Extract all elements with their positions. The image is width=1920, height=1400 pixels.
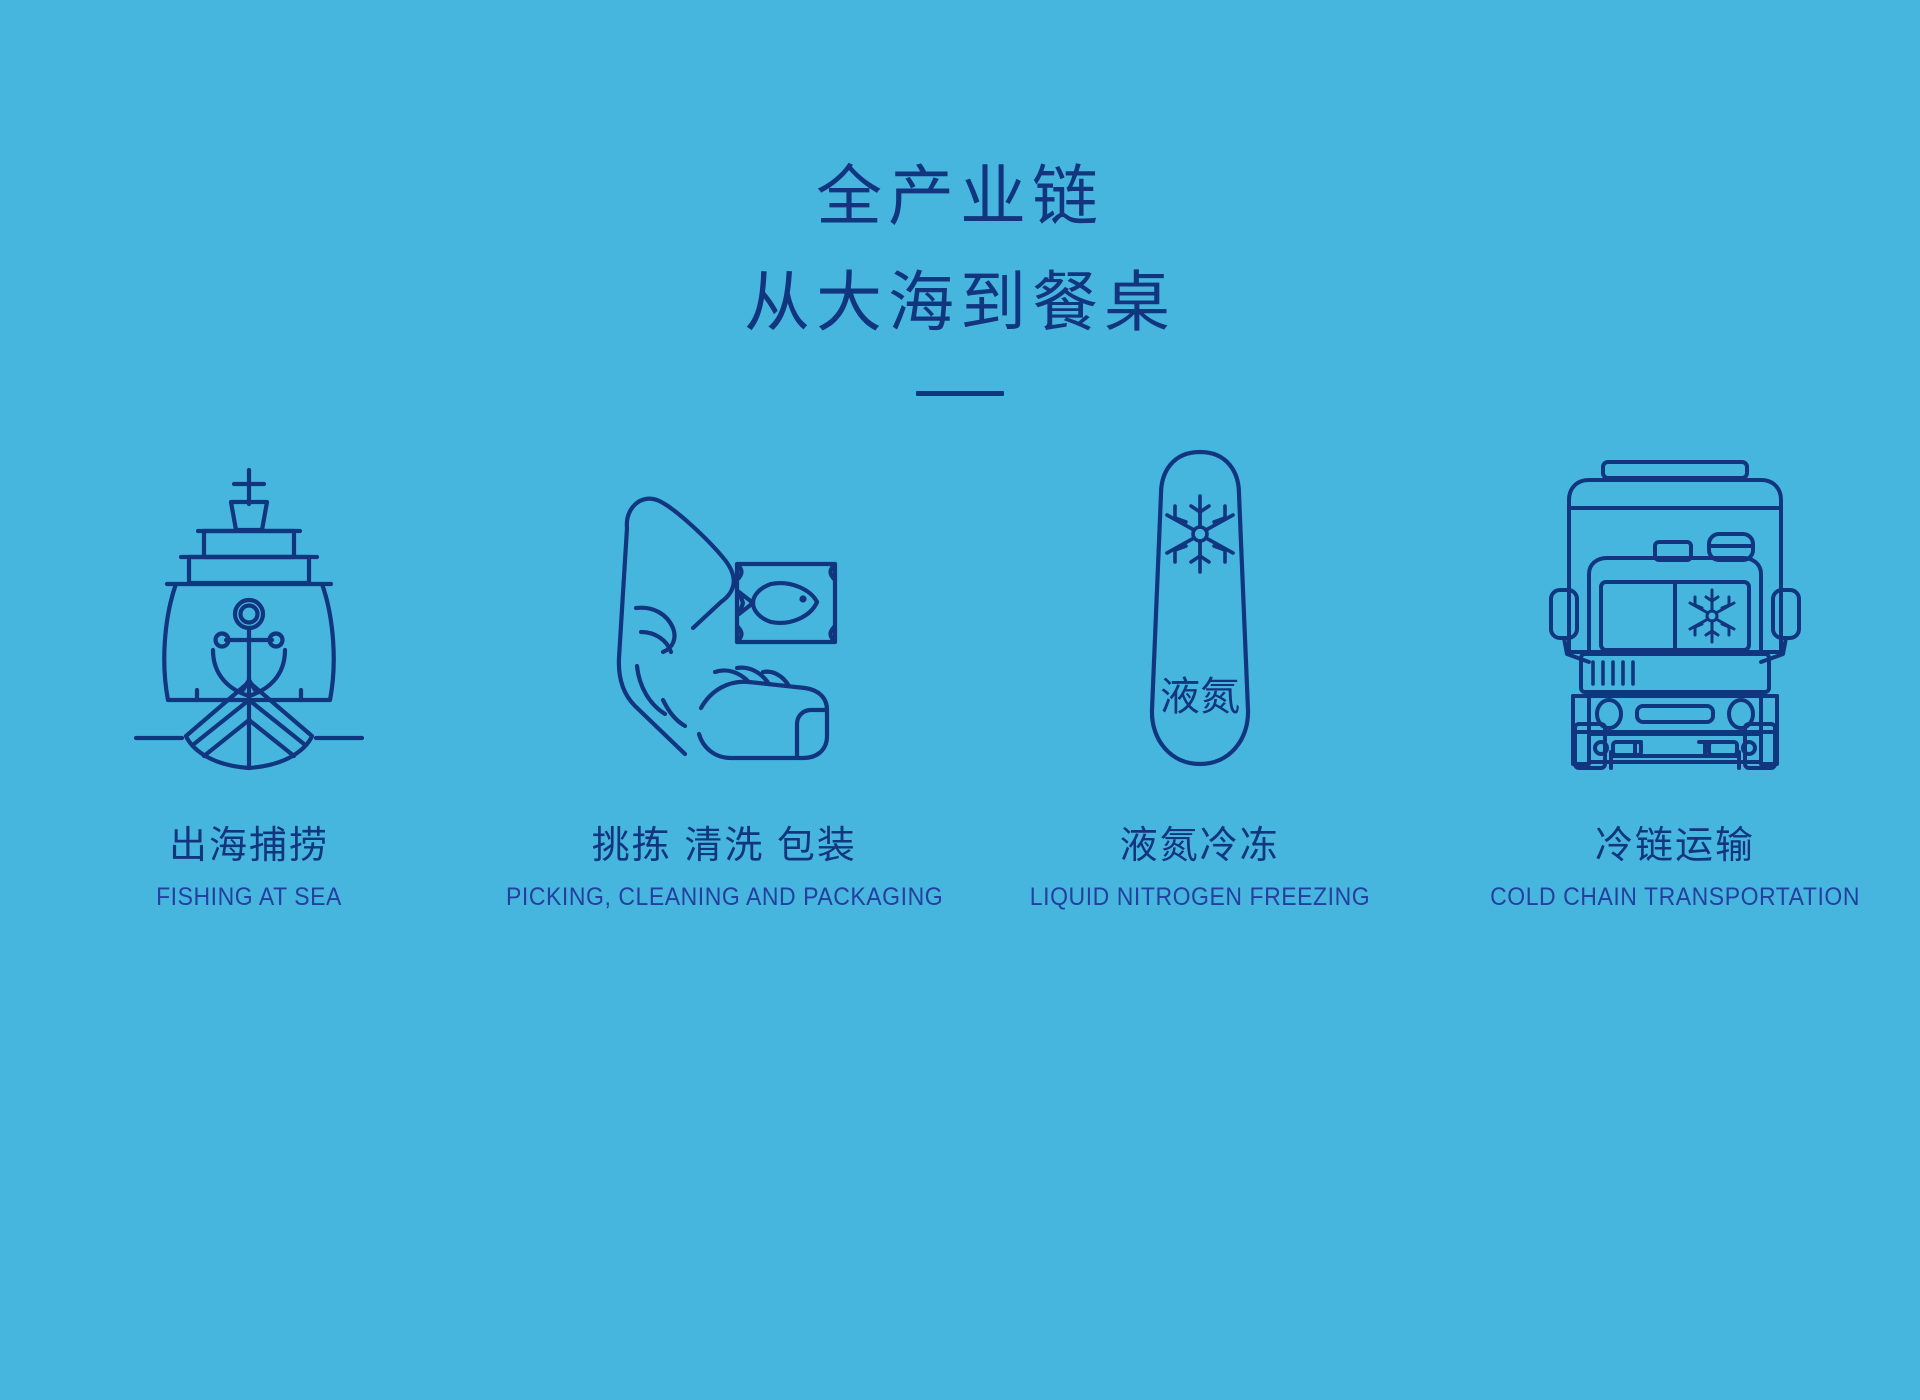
step-fishing-at-sea: 出海捕捞 FISHING AT SEA [24, 438, 474, 911]
step-liquid-nitrogen-freezing: 液氮 液氮冷冻 LIQUID NITROGEN FREEZING [975, 438, 1425, 911]
title-block: 全产业链 从大海到餐桌 [744, 150, 1176, 396]
snowflake-icon [1167, 496, 1233, 572]
page-title-line-2: 从大海到餐桌 [744, 256, 1176, 350]
step-label-zh: 液氮冷冻 [1120, 826, 1280, 868]
step-label-en: PICKING, CLEANING AND PACKAGING [506, 884, 943, 912]
fishing-boat-icon [134, 438, 364, 768]
step-label-zh: 挑拣 清洗 包装 [592, 826, 857, 868]
title-divider [916, 391, 1004, 396]
step-label-zh: 出海捕捞 [169, 826, 329, 868]
page-title-line-1: 全产业链 [816, 150, 1104, 244]
liquid-nitrogen-tank-icon: 液氮 [1135, 438, 1265, 768]
step-label-en: FISHING AT SEA [156, 884, 342, 912]
step-label-en: COLD CHAIN TRANSPORTATION [1490, 884, 1860, 912]
step-label-en: LIQUID NITROGEN FREEZING [1029, 884, 1369, 912]
tank-text: 液氮 [1160, 675, 1240, 719]
process-steps: 出海捕捞 FISHING AT SEA [0, 438, 1920, 911]
refrigerated-truck-icon [1545, 438, 1805, 768]
infographic-page: 全产业链 从大海到餐桌 [0, 0, 1920, 1400]
step-label-zh: 冷链运输 [1595, 826, 1755, 868]
snowflake-icon [1690, 590, 1734, 642]
hands-fish-package-icon [589, 438, 859, 768]
step-cold-chain-transportation: 冷链运输 COLD CHAIN TRANSPORTATION [1450, 438, 1900, 911]
step-picking-cleaning-packaging: 挑拣 清洗 包装 PICKING, CLEANING AND PACKAGING [499, 438, 949, 911]
